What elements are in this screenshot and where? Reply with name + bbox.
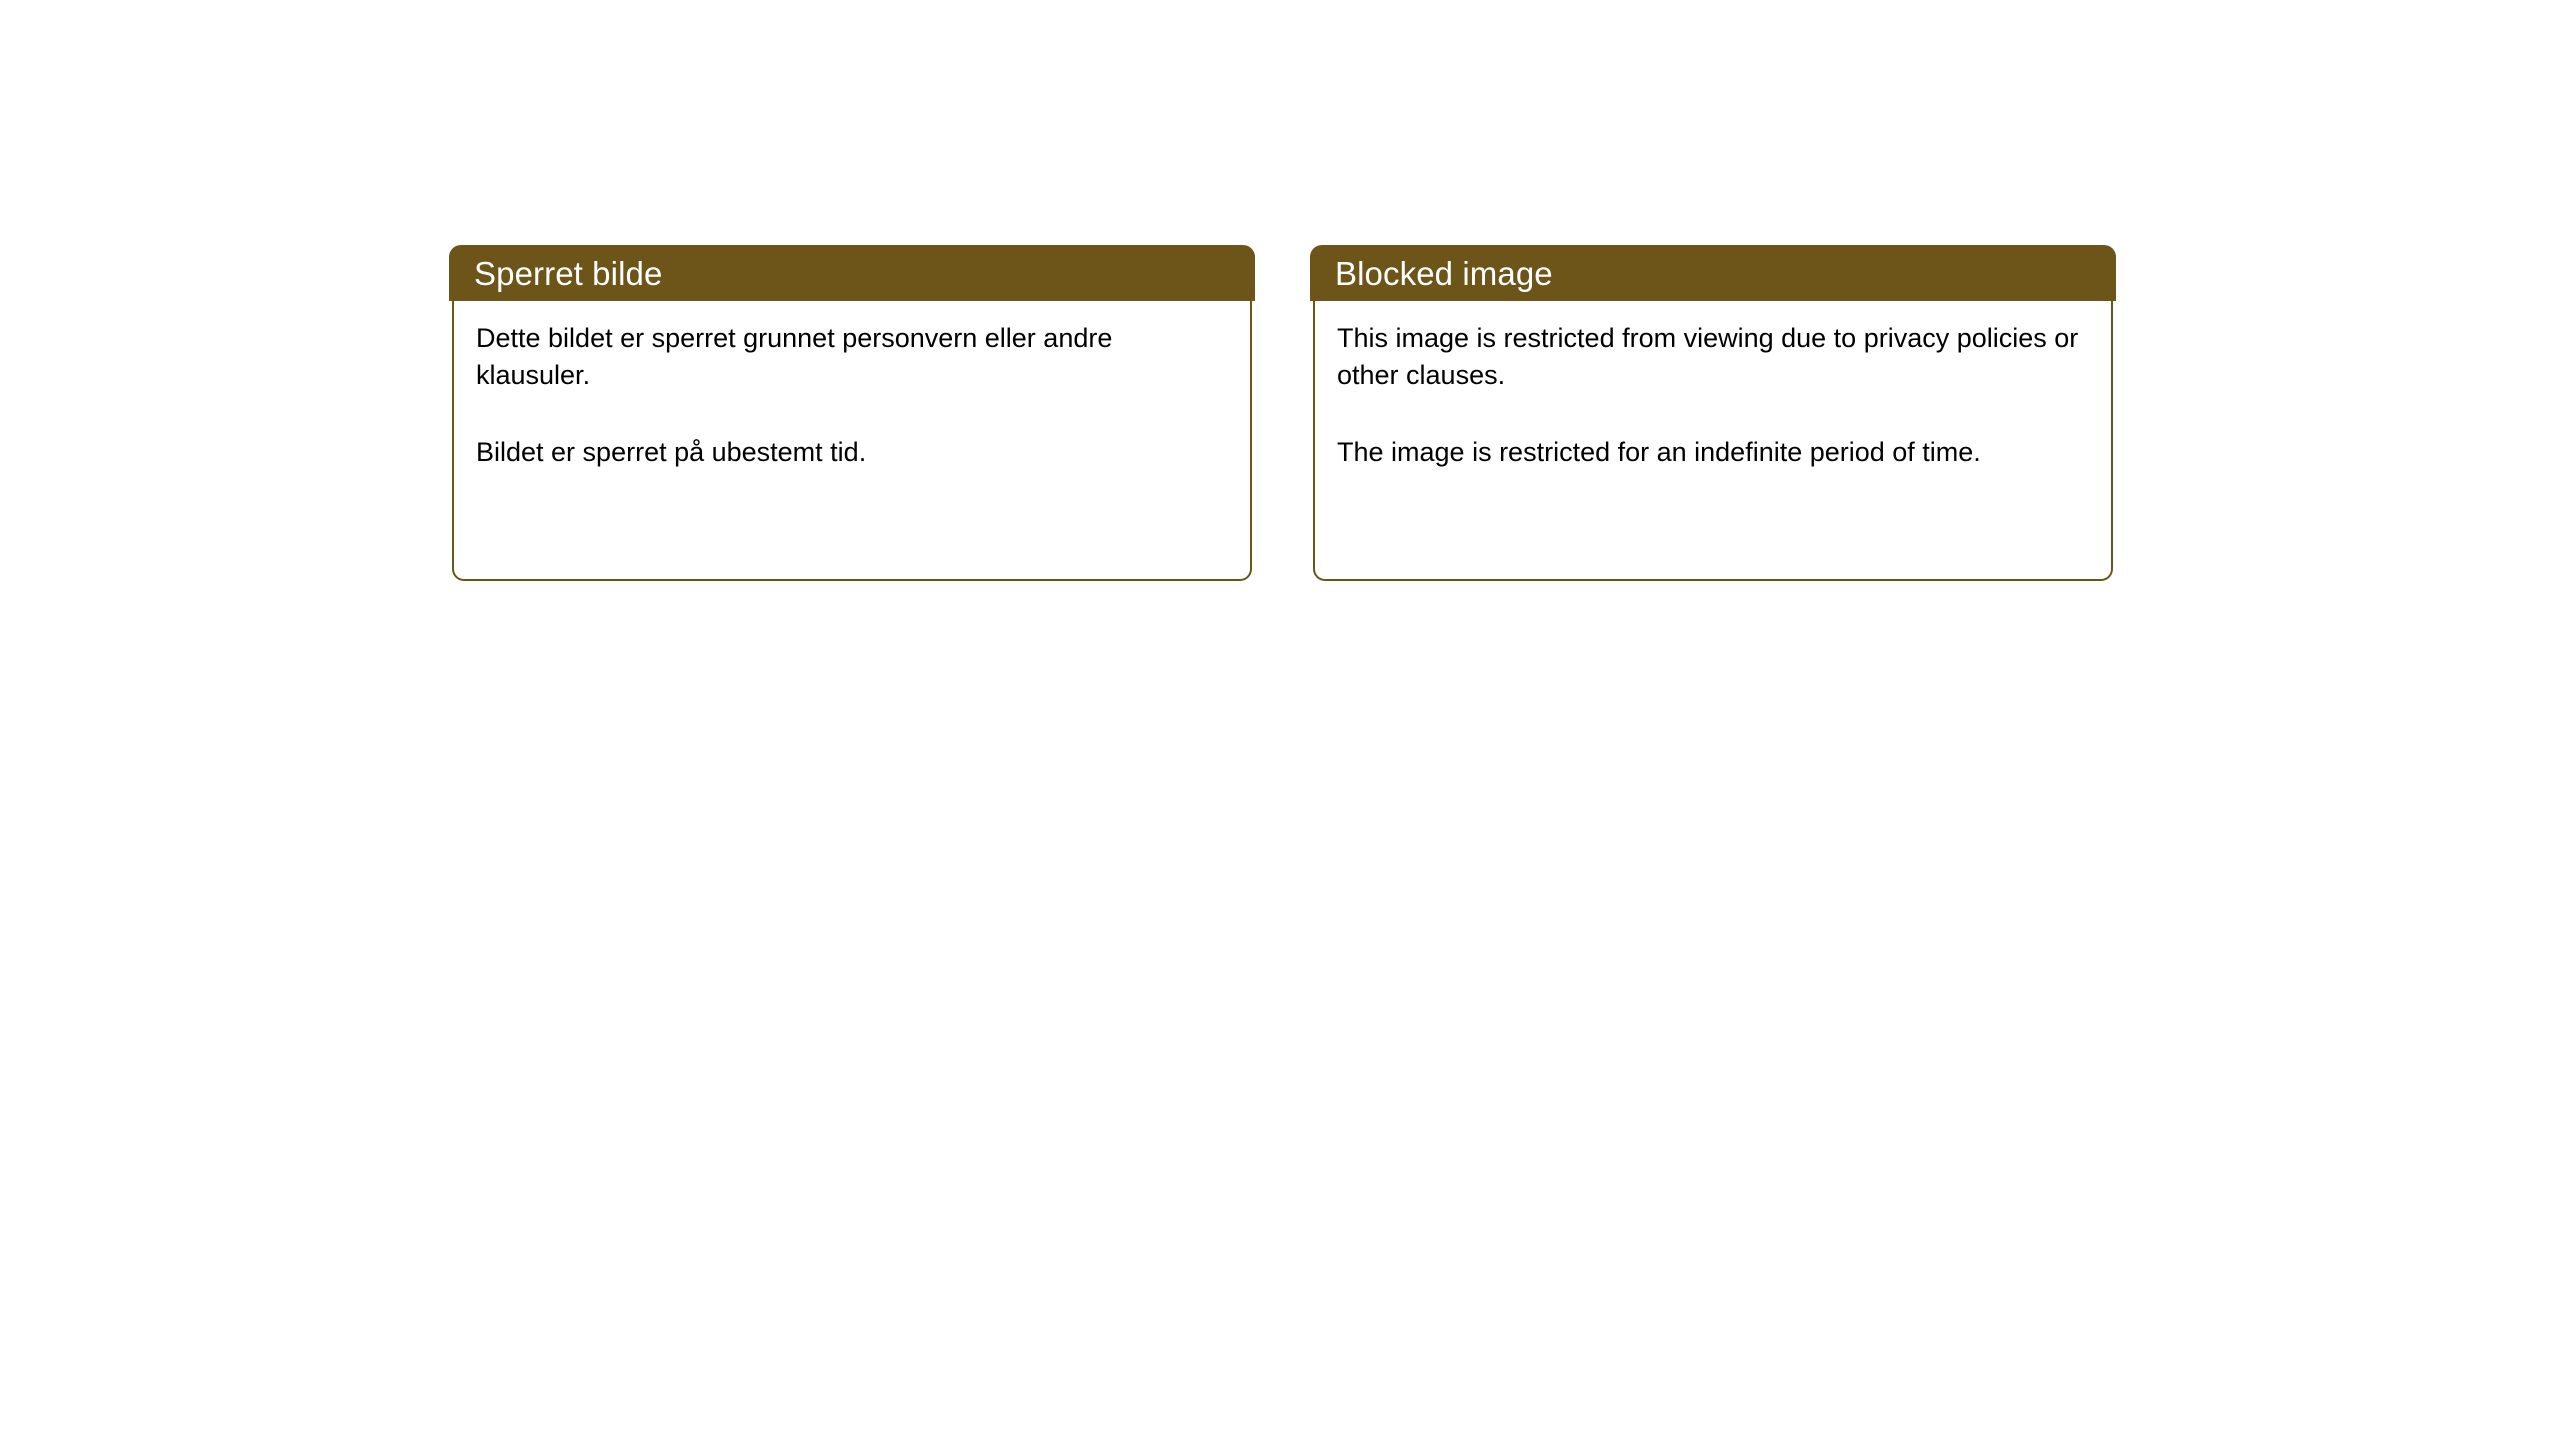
card-text-norwegian: Dette bildet er sperret grunnet personve… — [476, 320, 1216, 471]
card-paragraph-duration-norwegian: Bildet er sperret på ubestemt tid. — [476, 434, 1216, 471]
blocked-image-card-english: Blocked image This image is restricted f… — [1310, 245, 2116, 581]
card-paragraph-reason-english: This image is restricted from viewing du… — [1337, 320, 2097, 394]
blocked-image-card-norwegian: Sperret bilde Dette bildet er sperret gr… — [449, 245, 1255, 581]
card-title-english: Blocked image — [1335, 257, 1553, 290]
card-body-norwegian: Dette bildet er sperret grunnet personve… — [452, 296, 1252, 581]
card-paragraph-duration-english: The image is restricted for an indefinit… — [1337, 434, 2097, 471]
card-header-english: Blocked image — [1310, 245, 2116, 301]
card-body-english: This image is restricted from viewing du… — [1313, 296, 2113, 581]
card-header-norwegian: Sperret bilde — [449, 245, 1255, 301]
card-paragraph-reason-norwegian: Dette bildet er sperret grunnet personve… — [476, 320, 1216, 394]
card-text-english: This image is restricted from viewing du… — [1337, 320, 2097, 471]
card-title-norwegian: Sperret bilde — [474, 257, 662, 290]
blocked-image-notice-area: Sperret bilde Dette bildet er sperret gr… — [0, 0, 2560, 1440]
